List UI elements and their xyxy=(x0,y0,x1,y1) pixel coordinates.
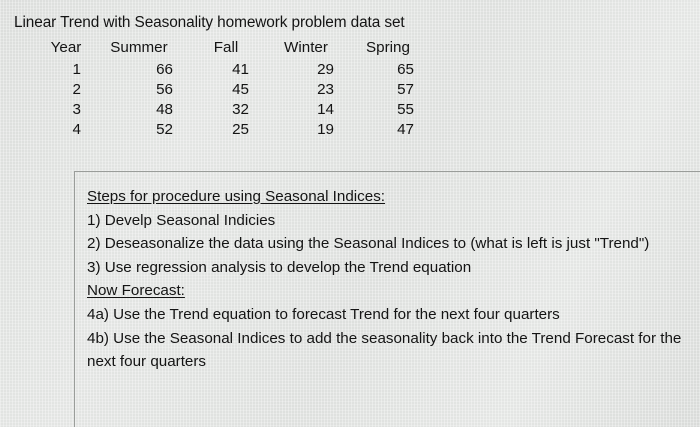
column-header-summer: Summer xyxy=(90,38,194,59)
cell-year: 2 xyxy=(44,79,90,99)
seasonality-data-table: Year Summer Fall Winter Spring 1 66 41 2… xyxy=(44,38,434,139)
cell-year: 4 xyxy=(44,119,90,139)
cell-fall: 41 xyxy=(194,59,266,79)
column-header-year: Year xyxy=(44,38,90,59)
cell-winter: 19 xyxy=(266,119,348,139)
step-3: 3) Use regression analysis to develop th… xyxy=(87,256,696,280)
step-4a: 4a) Use the Trend equation to forecast T… xyxy=(87,303,696,327)
document-page: Linear Trend with Seasonality homework p… xyxy=(0,0,700,427)
column-header-spring: Spring xyxy=(348,38,434,59)
forecast-heading: Now Forecast: xyxy=(87,279,696,303)
cell-spring: 65 xyxy=(348,59,434,79)
cell-fall: 25 xyxy=(194,119,266,139)
cell-winter: 29 xyxy=(266,59,348,79)
table-header-row: Year Summer Fall Winter Spring xyxy=(44,38,434,59)
steps-heading: Steps for procedure using Seasonal Indic… xyxy=(87,185,696,209)
steps-panel: Steps for procedure using Seasonal Indic… xyxy=(74,171,700,427)
page-title: Linear Trend with Seasonality homework p… xyxy=(14,14,405,32)
cell-year: 3 xyxy=(44,99,90,119)
step-4b: 4b) Use the Seasonal Indices to add the … xyxy=(87,327,687,374)
cell-summer: 66 xyxy=(90,59,194,79)
column-header-fall: Fall xyxy=(194,38,266,59)
cell-summer: 52 xyxy=(90,119,194,139)
table-row: 3 48 32 14 55 xyxy=(44,99,434,119)
table-row: 2 56 45 23 57 xyxy=(44,79,434,99)
table-row: 1 66 41 29 65 xyxy=(44,59,434,79)
cell-summer: 48 xyxy=(90,99,194,119)
table-row: 4 52 25 19 47 xyxy=(44,119,434,139)
cell-year: 1 xyxy=(44,59,90,79)
cell-summer: 56 xyxy=(90,79,194,99)
cell-winter: 23 xyxy=(266,79,348,99)
step-2: 2) Deseasonalize the data using the Seas… xyxy=(87,232,687,256)
cell-spring: 47 xyxy=(348,119,434,139)
cell-spring: 57 xyxy=(348,79,434,99)
cell-fall: 32 xyxy=(194,99,266,119)
column-header-winter: Winter xyxy=(266,38,348,59)
cell-spring: 55 xyxy=(348,99,434,119)
step-1: 1) Develp Seasonal Indicies xyxy=(87,209,696,233)
cell-fall: 45 xyxy=(194,79,266,99)
cell-winter: 14 xyxy=(266,99,348,119)
